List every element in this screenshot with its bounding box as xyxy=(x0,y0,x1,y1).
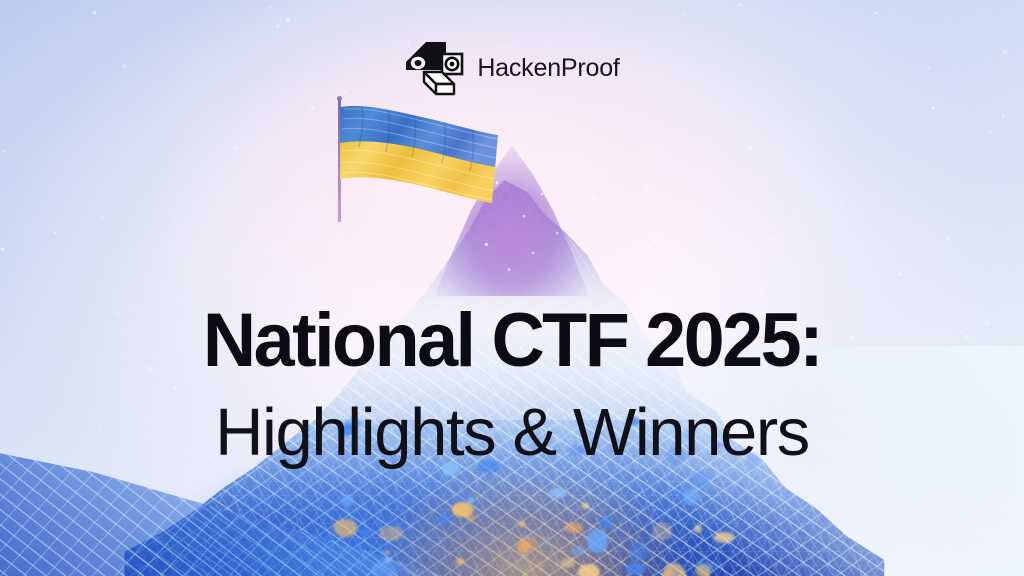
bokeh-light-icon xyxy=(452,502,474,517)
star-particle-icon xyxy=(268,6,271,9)
bokeh-light-icon xyxy=(371,562,394,576)
flag-cloth-icon xyxy=(340,105,500,213)
bokeh-light-icon xyxy=(437,515,451,525)
bokeh-light-icon xyxy=(341,495,354,506)
star-particle-icon xyxy=(73,25,75,27)
bokeh-light-icon xyxy=(360,528,375,536)
bokeh-light-icon xyxy=(384,550,390,555)
bokeh-light-icon xyxy=(582,503,589,509)
bokeh-light-icon xyxy=(564,523,583,534)
hero-banner: HackenProof National CTF 2025: Highlight… xyxy=(0,0,1024,576)
bokeh-light-icon xyxy=(394,565,405,572)
bokeh-light-icon xyxy=(383,557,392,564)
bokeh-light-icon xyxy=(519,521,525,527)
star-particle-icon xyxy=(259,122,261,124)
star-particle-icon xyxy=(988,131,992,135)
hero-headline-block: National CTF 2025: Highlights & Winners xyxy=(0,303,1024,466)
star-particle-icon xyxy=(874,11,878,15)
ukraine-flag-icon xyxy=(330,97,510,222)
bokeh-light-icon xyxy=(468,497,474,503)
brand-logo[interactable]: HackenProof xyxy=(0,40,1024,96)
bokeh-light-icon xyxy=(560,558,574,568)
page-subtitle: Highlights & Winners xyxy=(0,399,1024,466)
page-title: National CTF 2025: xyxy=(15,303,1008,379)
star-particle-icon xyxy=(738,3,742,7)
star-particle-icon xyxy=(285,17,291,23)
star-particle-icon xyxy=(1001,114,1004,117)
star-particle-icon xyxy=(247,139,250,142)
star-particle-icon xyxy=(683,13,686,16)
bokeh-light-icon xyxy=(578,564,600,576)
star-particle-icon xyxy=(275,24,280,29)
bokeh-light-icon xyxy=(543,542,548,545)
star-particle-icon xyxy=(92,10,97,15)
bokeh-light-icon xyxy=(549,488,568,499)
bokeh-light-icon xyxy=(570,546,587,555)
bokeh-light-icon xyxy=(456,558,464,565)
brand-wordmark: HackenProof xyxy=(477,56,619,81)
bokeh-light-icon xyxy=(517,541,530,554)
star-particle-icon xyxy=(310,106,316,112)
star-particle-icon xyxy=(931,106,935,110)
hackenproof-cube-logo-icon[interactable] xyxy=(404,40,464,96)
bokeh-light-icon xyxy=(334,519,357,536)
bokeh-light-icon xyxy=(379,526,402,541)
